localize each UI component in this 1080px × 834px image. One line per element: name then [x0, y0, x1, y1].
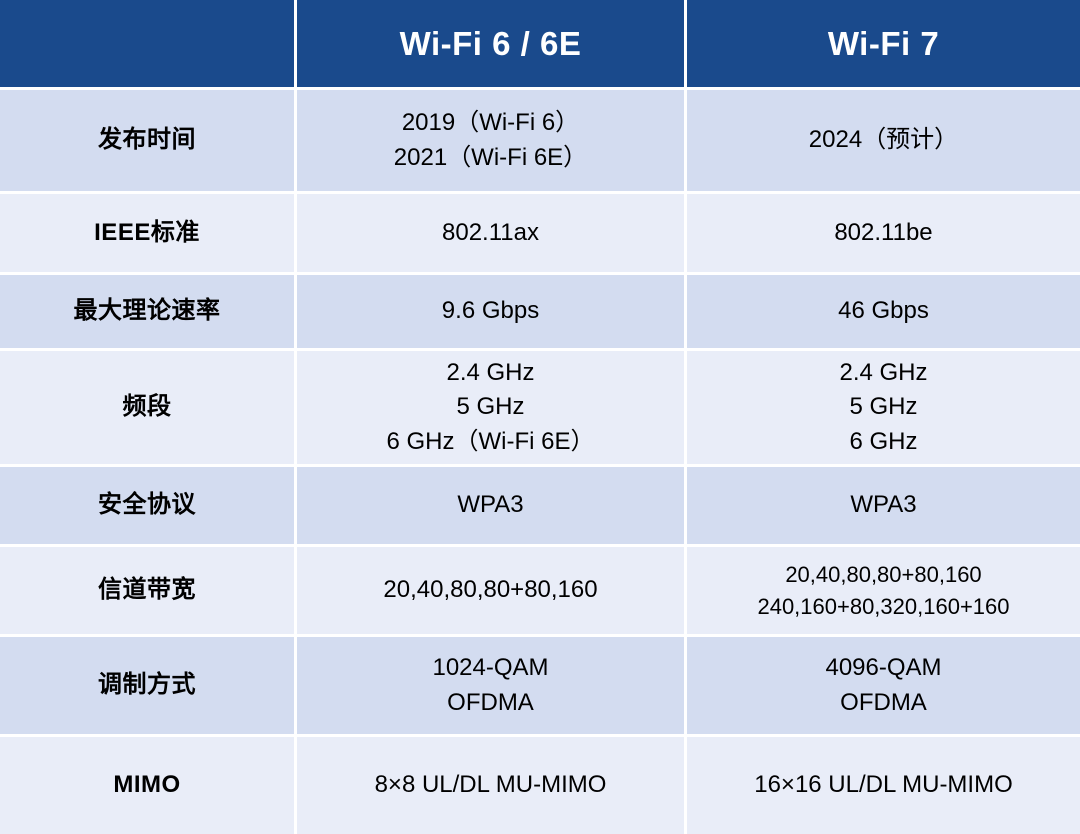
cell-wifi7: 46 Gbps — [687, 275, 1080, 351]
table-row: 安全协议WPA3WPA3 — [0, 467, 1080, 547]
table-header: Wi-Fi 6 / 6E Wi-Fi 7 — [0, 0, 1080, 90]
cell-line: 8×8 UL/DL MU-MIMO — [305, 768, 676, 802]
cell-line: 6 GHz（Wi-Fi 6E） — [305, 425, 676, 459]
row-header-cell: IEEE标准 — [0, 194, 297, 275]
cell-wifi7: 2.4 GHz5 GHz6 GHz — [687, 351, 1080, 467]
cell-line: 16×16 UL/DL MU-MIMO — [695, 768, 1072, 802]
cell-line: 4096-QAM — [695, 651, 1072, 685]
cell-line: 2019（Wi-Fi 6） — [305, 106, 676, 140]
cell-line: 9.6 Gbps — [305, 294, 676, 328]
cell-wifi7: 4096-QAMOFDMA — [687, 637, 1080, 737]
row-header-cell: MIMO — [0, 737, 297, 834]
row-header-cell: 调制方式 — [0, 637, 297, 737]
cell-line: OFDMA — [305, 686, 676, 720]
table-row: 频段2.4 GHz5 GHz6 GHz（Wi-Fi 6E）2.4 GHz5 GH… — [0, 351, 1080, 467]
wifi-comparison-table: Wi-Fi 6 / 6E Wi-Fi 7 发布时间2019（Wi-Fi 6）20… — [0, 0, 1080, 834]
cell-wifi7: 802.11be — [687, 194, 1080, 275]
cell-line: 5 GHz — [305, 390, 676, 424]
cell-line: 2021（Wi-Fi 6E） — [305, 141, 676, 175]
table-row: 调制方式1024-QAMOFDMA4096-QAMOFDMA — [0, 637, 1080, 737]
cell-wifi6: 20,40,80,80+80,160 — [297, 547, 687, 637]
cell-line: 20,40,80,80+80,160 — [305, 573, 676, 607]
cell-wifi6: 2.4 GHz5 GHz6 GHz（Wi-Fi 6E） — [297, 351, 687, 467]
table-row: 信道带宽20,40,80,80+80,16020,40,80,80+80,160… — [0, 547, 1080, 637]
table-row: IEEE标准802.11ax802.11be — [0, 194, 1080, 275]
cell-line: 6 GHz — [695, 425, 1072, 459]
cell-wifi7: 20,40,80,80+80,160240,160+80,320,160+160 — [687, 547, 1080, 637]
cell-line: 802.11be — [695, 216, 1072, 250]
cell-line: WPA3 — [695, 488, 1072, 522]
row-header-cell: 最大理论速率 — [0, 275, 297, 351]
cell-wifi7: 16×16 UL/DL MU-MIMO — [687, 737, 1080, 834]
table-body: 发布时间2019（Wi-Fi 6）2021（Wi-Fi 6E）2024（预计）I… — [0, 90, 1080, 834]
cell-wifi6: 9.6 Gbps — [297, 275, 687, 351]
cell-wifi6: 8×8 UL/DL MU-MIMO — [297, 737, 687, 834]
cell-line: 2024（预计） — [695, 123, 1072, 157]
cell-wifi6: 2019（Wi-Fi 6）2021（Wi-Fi 6E） — [297, 90, 687, 194]
table-row: 发布时间2019（Wi-Fi 6）2021（Wi-Fi 6E）2024（预计） — [0, 90, 1080, 194]
row-header-cell: 频段 — [0, 351, 297, 467]
column-header-feature — [0, 0, 297, 90]
cell-line: 20,40,80,80+80,160 — [695, 559, 1072, 590]
column-header-wifi7: Wi-Fi 7 — [687, 0, 1080, 90]
cell-line: WPA3 — [305, 488, 676, 522]
cell-line: 1024-QAM — [305, 651, 676, 685]
cell-line: 2.4 GHz — [305, 356, 676, 390]
cell-wifi6: WPA3 — [297, 467, 687, 547]
row-header-cell: 发布时间 — [0, 90, 297, 194]
cell-line: 5 GHz — [695, 390, 1072, 424]
table-row: MIMO8×8 UL/DL MU-MIMO16×16 UL/DL MU-MIMO — [0, 737, 1080, 834]
cell-wifi7: WPA3 — [687, 467, 1080, 547]
row-header-cell: 安全协议 — [0, 467, 297, 547]
cell-wifi6: 1024-QAMOFDMA — [297, 637, 687, 737]
cell-line: 802.11ax — [305, 216, 676, 250]
cell-line: 2.4 GHz — [695, 356, 1072, 390]
cell-line: 46 Gbps — [695, 294, 1072, 328]
header-row: Wi-Fi 6 / 6E Wi-Fi 7 — [0, 0, 1080, 90]
table-row: 最大理论速率9.6 Gbps46 Gbps — [0, 275, 1080, 351]
row-header-cell: 信道带宽 — [0, 547, 297, 637]
cell-wifi7: 2024（预计） — [687, 90, 1080, 194]
cell-line: 240,160+80,320,160+160 — [695, 591, 1072, 622]
column-header-wifi6: Wi-Fi 6 / 6E — [297, 0, 687, 90]
cell-wifi6: 802.11ax — [297, 194, 687, 275]
cell-line: OFDMA — [695, 686, 1072, 720]
